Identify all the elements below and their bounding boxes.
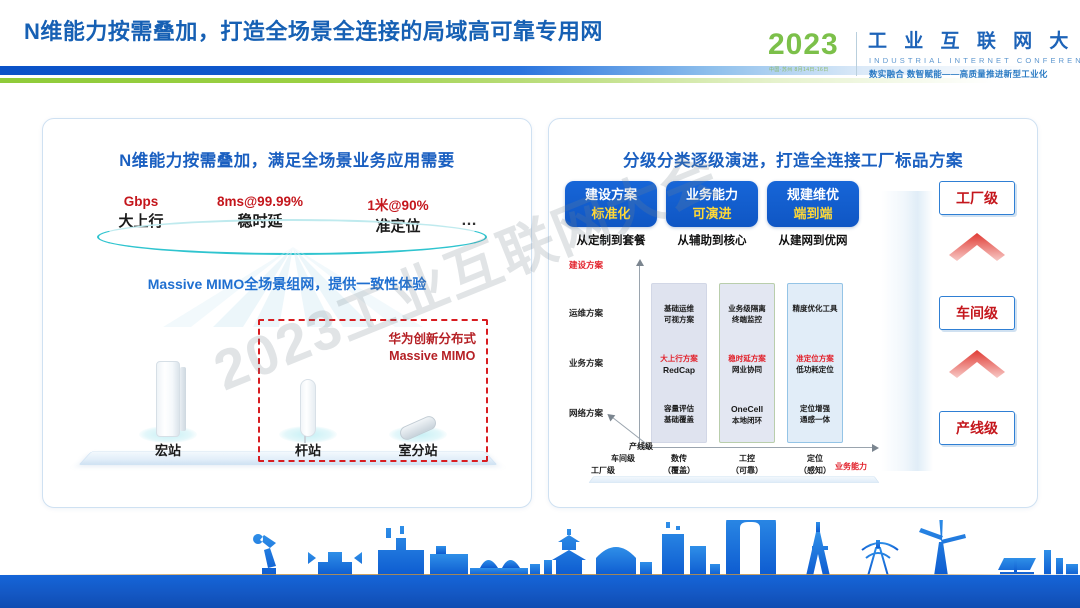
cell-line: 定位增强: [788, 404, 842, 415]
logo-divider: [856, 32, 857, 76]
left-panel: N维能力按需叠加，满足全场景业务应用需要 Gbps 大上行 8ms@99.99%…: [42, 118, 532, 508]
matrix-column-gongkong: 业务级隔离 终端监控 稳时延方案 网业协同 OneCell 本地闭环: [719, 283, 775, 443]
matrix-cell: 精度优化工具: [788, 304, 842, 315]
cell-line: 低功耗定位: [788, 365, 842, 376]
matrix-column-dingwei: 精度优化工具 准定位方案 低功耗定位 定位增强 通感一体: [787, 283, 843, 443]
level-ladder: 工厂级 车间级 产线级: [929, 181, 1025, 481]
chart-x-axis-title: 业务能力: [835, 461, 867, 472]
pill-line2: 标准化: [565, 205, 657, 223]
pill-line2: 可演进: [666, 205, 758, 223]
kpi-value: 1米@90%: [343, 194, 453, 214]
cell-line: 精度优化工具: [788, 304, 842, 315]
pill-plan-build-maintain[interactable]: 规建维优 端到端: [767, 181, 859, 227]
cell-line: 大上行方案: [652, 354, 706, 365]
matrix-cell: 大上行方案 RedCap: [652, 354, 706, 376]
level-production-line: 产线级: [939, 411, 1015, 445]
chart-z-tick: 车间级: [611, 453, 635, 464]
macro-antenna-icon: [156, 361, 180, 437]
pill-line1: 规建维优: [767, 186, 859, 205]
chevron-up-icon: [945, 346, 1009, 382]
kpi-value: Gbps: [91, 194, 191, 209]
cell-line: 业务级隔离: [720, 304, 774, 315]
pill-caption: 从辅助到核心: [666, 232, 758, 248]
logo-name-en: INDUSTRIAL INTERNET CONFERENCE: [869, 56, 1080, 65]
pill-caption: 从定制到套餐: [565, 232, 657, 248]
slide-footer: [0, 520, 1080, 608]
chart-y-tick: 网络方案: [569, 407, 635, 419]
matrix-cell: 基础运维 可视方案: [652, 304, 706, 325]
cell-line: 准定位方案: [788, 354, 842, 365]
cell-line: 容量评估: [652, 404, 706, 415]
logo-place-date: 中国·苏州 8月14日-16日: [769, 66, 829, 73]
ladder-sheen: [881, 191, 933, 471]
x-tick-name: 数传: [649, 453, 709, 465]
cell-line: 本地闭环: [720, 416, 774, 427]
matrix-cell: 准定位方案 低功耗定位: [788, 354, 842, 375]
cell-line: 基础覆盖: [652, 415, 706, 426]
cell-line: 终端监控: [720, 315, 774, 326]
conference-logo: 2023 中国·苏州 8月14日-16日 工 业 互 联 网 大 会 INDUS…: [768, 30, 1068, 88]
matrix-cell: 稳时延方案 网业协同: [720, 354, 774, 375]
chart-x-tick: 工控 （可靠）: [717, 453, 777, 476]
page-title: N维能力按需叠加，打造全场景全连接的局域高可靠专用网: [24, 14, 603, 46]
footer-water-band: [0, 575, 1080, 608]
left-panel-title: N维能力按需叠加，满足全场景业务应用需要: [43, 147, 531, 171]
chart-y-tick: 建设方案: [569, 259, 635, 271]
chart-z-tick: 产线级: [629, 441, 653, 452]
chart-y-tick: 运维方案: [569, 307, 635, 319]
highlight-note-line2: Massive MIMO: [388, 348, 476, 365]
pill-line1: 建设方案: [565, 186, 657, 205]
matrix-cell: 容量评估 基础覆盖: [652, 404, 706, 425]
cell-line: RedCap: [652, 365, 706, 377]
cell-line: 通感一体: [788, 415, 842, 426]
highlight-note: 华为创新分布式 Massive MIMO: [388, 331, 476, 365]
solution-matrix-chart: 建设方案 运维方案 业务方案 网络方案 基础运维 可视方案 大上行方案 RedC…: [567, 261, 877, 486]
chart-y-tick: 业务方案: [569, 357, 635, 369]
cell-line: OneCell: [720, 404, 774, 416]
matrix-cell: 定位增强 通感一体: [788, 404, 842, 425]
station-macro: 宏站: [123, 337, 213, 457]
mimo-caption: Massive MIMO全场景组网，提供一致性体验: [43, 274, 531, 294]
x-tick-name: 工控: [717, 453, 777, 465]
level-factory: 工厂级: [939, 181, 1015, 215]
kpi-ellipsis: …: [461, 212, 477, 230]
kpi-value: 8ms@99.99%: [195, 194, 325, 209]
right-panel: 分级分类逐级演进，打造全连接工厂标品方案 建设方案 标准化 业务能力 可演进 规…: [548, 118, 1038, 508]
station-label: 宏站: [123, 440, 213, 459]
logo-subtitle: 数实融合 数智赋能——高质量推进新型工业化: [869, 68, 1048, 80]
pill-construction-plan[interactable]: 建设方案 标准化: [565, 181, 657, 227]
chart-z-tick: 工厂级: [591, 465, 615, 476]
cell-line: 网业协同: [720, 365, 774, 376]
highlight-dashed-box: 华为创新分布式 Massive MIMO: [258, 319, 488, 462]
pill-service-capability[interactable]: 业务能力 可演进: [666, 181, 758, 227]
city-skyline-icon: [0, 520, 1080, 576]
right-panel-title: 分级分类逐级演进，打造全连接工厂标品方案: [549, 147, 1037, 171]
logo-year: 2023: [768, 30, 839, 60]
x-tick-sub: （可靠）: [717, 465, 777, 477]
chart-y-axis: [639, 265, 640, 447]
level-workshop: 车间级: [939, 296, 1015, 330]
pill-caption: 从建网到优网: [767, 232, 859, 248]
matrix-cell: 业务级隔离 终端监控: [720, 304, 774, 325]
chevron-up-icon: [945, 229, 1009, 265]
chart-base-plate: [588, 476, 880, 483]
x-tick-sub: （覆盖）: [649, 465, 709, 477]
pill-line2: 端到端: [767, 205, 859, 223]
cell-line: 基础运维: [652, 304, 706, 315]
chart-x-axis: [639, 447, 873, 448]
matrix-cell: OneCell 本地闭环: [720, 404, 774, 426]
logo-name-cn: 工 业 互 联 网 大 会: [868, 32, 1080, 53]
cell-line: 可视方案: [652, 315, 706, 326]
slide-header: N维能力按需叠加，打造全场景全连接的局域高可靠专用网 2023 中国·苏州 8月…: [0, 0, 1080, 100]
chart-x-tick: 数传 （覆盖）: [649, 453, 709, 476]
matrix-column-shuchuan: 基础运维 可视方案 大上行方案 RedCap 容量评估 基础覆盖: [651, 283, 707, 443]
highlight-note-line1: 华为创新分布式: [388, 331, 476, 348]
pill-line1: 业务能力: [666, 186, 758, 205]
cell-line: 稳时延方案: [720, 354, 774, 365]
